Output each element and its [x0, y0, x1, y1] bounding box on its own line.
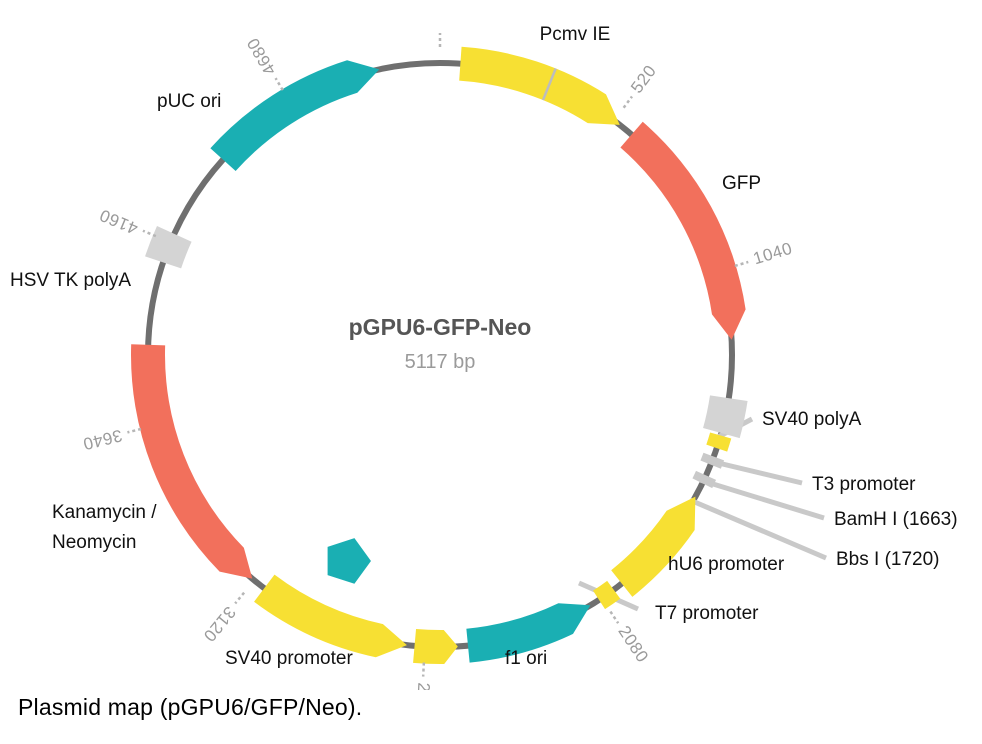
feature-hu6-promoter[interactable]	[611, 497, 695, 597]
tick-label-4160: 4160	[97, 205, 141, 238]
label-kanamycin-neomycin-line1: Kanamycin /	[52, 502, 157, 523]
label-puc-ori: pUC ori	[157, 91, 221, 112]
feature-sv40-promoter[interactable]	[254, 575, 407, 658]
tick-mark-2080	[610, 612, 618, 624]
tick-mark-3120	[235, 593, 244, 604]
label-gfp: GFP	[722, 173, 761, 194]
tick-label-2080: 2080	[614, 622, 652, 666]
feature-sv40-polya[interactable]	[703, 395, 748, 438]
label-t7-promoter: T7 promoter	[655, 603, 759, 624]
tick-mark-2600	[423, 663, 424, 677]
plasmid-diagram: 5201040208026003120364041604680 Pcmv IEG…	[0, 0, 982, 690]
plasmid-size: 5117 bp	[405, 351, 476, 373]
tick-label-3120: 3120	[199, 603, 239, 646]
tick-mark-520	[624, 96, 632, 107]
leader-lines	[579, 419, 826, 609]
center-title-group: pGPU6-GFP-Neo 5117 bp	[349, 314, 532, 373]
label-pcmv-ie: Pcmv IE	[540, 24, 611, 45]
feature-gfp[interactable]	[620, 122, 745, 340]
label-kanamycin-neomycin-line2: Neomycin	[52, 532, 136, 553]
feature-hsv-tk-polya[interactable]	[145, 226, 192, 268]
feature-sv40-promoter-small-arrow[interactable]	[413, 629, 458, 664]
label-bbs-i-1720: Bbs I (1720)	[836, 549, 940, 570]
figure-caption: Plasmid map (pGPU6/GFP/Neo).	[18, 694, 362, 721]
label-t3-promoter: T3 promoter	[812, 474, 916, 495]
plasmid-name: pGPU6-GFP-Neo	[349, 314, 532, 340]
label-bamh-i-1663: BamH I (1663)	[834, 509, 958, 530]
tick-label-1040: 1040	[751, 239, 795, 269]
feature-kanamycin-neomycin[interactable]	[131, 344, 252, 578]
label-hsv-tk-polya: HSV TK polyA	[10, 270, 131, 291]
tick-label-3640: 3640	[81, 426, 124, 454]
feature-pcmv-ie[interactable]	[459, 47, 620, 125]
tick-mark-3640	[127, 429, 141, 432]
plasmid-map: 5201040208026003120364041604680 Pcmv IEG…	[0, 0, 982, 690]
tick-mark-1040	[735, 262, 748, 266]
tick-label-4680: 4680	[243, 34, 280, 78]
feature-puc-ori[interactable]	[210, 60, 379, 171]
label-sv40-polya: SV40 polyA	[762, 409, 862, 430]
tick-label-2600: 2600	[412, 682, 433, 690]
feature-t3-promoter[interactable]	[706, 432, 731, 451]
leader-line-bbs-i-1720	[690, 500, 826, 558]
pentagon-marker-icon[interactable]	[319, 531, 376, 586]
label-f1-ori: f1 ori	[505, 648, 547, 669]
label-sv40-promoter: SV40 promoter	[225, 648, 353, 669]
label-hu6-promoter: hU6 promoter	[668, 554, 785, 575]
pentagon-marker	[319, 531, 376, 586]
tick-mark-4680	[276, 78, 283, 90]
leader-line-t3-promoter	[710, 461, 802, 483]
tick-label-520: 520	[627, 61, 660, 96]
